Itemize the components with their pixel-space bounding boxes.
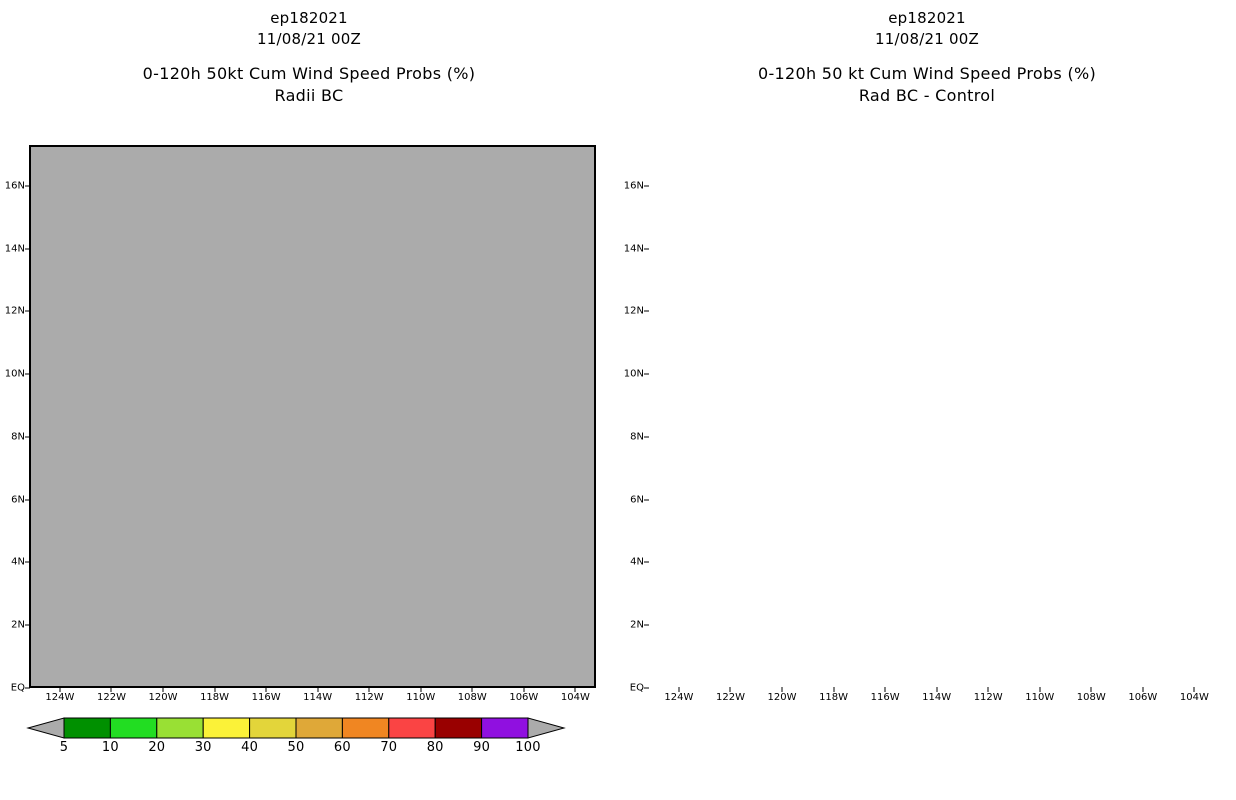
x-tick-label: 116W: [252, 692, 281, 703]
x-tick-mark: [782, 687, 783, 692]
colorbar-swatch: [250, 718, 296, 738]
y-tick-label: 14N: [614, 243, 644, 254]
x-tick-mark: [730, 687, 731, 692]
colorbar-swatch: [296, 718, 342, 738]
colorbar-tick-label: 60: [334, 740, 351, 755]
y-tick-label: 2N: [614, 620, 644, 631]
panel-right-title-block: ep182021 11/08/21 00Z 0-120h 50 kt Cum W…: [618, 8, 1236, 108]
y-tick-label: 16N: [0, 180, 25, 191]
colorbar-tick-label: 5: [60, 740, 68, 755]
y-tick-label: 10N: [0, 369, 25, 380]
y-tick-mark: [644, 436, 649, 437]
panel-radii-bc: ep182021 11/08/21 00Z 0-120h 50kt Cum Wi…: [0, 0, 618, 800]
x-tick-label: 112W: [355, 692, 384, 703]
colorbar-tick-label: 70: [380, 740, 397, 755]
y-tick-label: 8N: [614, 431, 644, 442]
colorbar-swatch: [157, 718, 203, 738]
y-tick-mark: [25, 311, 30, 312]
panel-right-storm-id: ep182021: [618, 8, 1236, 29]
x-tick-mark: [214, 687, 215, 692]
x-tick-label: 114W: [922, 692, 951, 703]
y-tick-mark: [644, 499, 649, 500]
plot-area-left: [29, 145, 596, 688]
y-tick-label: 10N: [614, 369, 644, 380]
panel-right-valid-time: 11/08/21 00Z: [618, 29, 1236, 50]
colorbar-swatch: [203, 718, 249, 738]
y-tick-mark: [25, 374, 30, 375]
colorbar-tick-label: 100: [515, 740, 540, 755]
y-tick-label: 14N: [0, 243, 25, 254]
y-tick-mark: [25, 436, 30, 437]
x-tick-label: 116W: [871, 692, 900, 703]
panel-left-title-block: ep182021 11/08/21 00Z 0-120h 50kt Cum Wi…: [0, 8, 618, 108]
x-tick-mark: [420, 687, 421, 692]
y-tick-mark: [25, 185, 30, 186]
colorbar-left: 5102030405060708090100: [0, 716, 618, 776]
colorbar-tick-label: 50: [288, 740, 305, 755]
colorbar-arrow-high: [528, 718, 564, 738]
x-tick-label: 118W: [200, 692, 229, 703]
colorbar-swatch: [342, 718, 388, 738]
y-tick-label: EQ: [614, 683, 644, 694]
x-tick-mark: [59, 687, 60, 692]
x-tick-label: 120W: [768, 692, 797, 703]
x-tick-label: 104W: [1180, 692, 1209, 703]
y-tick-mark: [644, 311, 649, 312]
colorbar-tick-label: 80: [427, 740, 444, 755]
x-tick-label: 106W: [509, 692, 538, 703]
y-tick-mark: [644, 248, 649, 249]
panel-right-title-main: 0-120h 50 kt Cum Wind Speed Probs (%): [618, 63, 1236, 85]
x-tick-mark: [1142, 687, 1143, 692]
x-tick-mark: [1091, 687, 1092, 692]
x-tick-mark: [936, 687, 937, 692]
x-tick-mark: [678, 687, 679, 692]
colorbar-swatch: [435, 718, 481, 738]
y-tick-mark: [25, 688, 30, 689]
x-tick-label: 118W: [819, 692, 848, 703]
y-tick-mark: [25, 248, 30, 249]
panel-left-title-sub: Radii BC: [0, 85, 618, 107]
y-tick-mark: [25, 562, 30, 563]
colorbar-swatch: [482, 718, 528, 738]
y-tick-mark: [644, 374, 649, 375]
colorbar-tick-label: 30: [195, 740, 212, 755]
x-tick-mark: [163, 687, 164, 692]
x-tick-label: 124W: [45, 692, 74, 703]
x-tick-label: 122W: [97, 692, 126, 703]
panel-right-title-sub: Rad BC - Control: [618, 85, 1236, 107]
colorbar-tick-label: 90: [473, 740, 490, 755]
y-tick-mark: [25, 625, 30, 626]
y-tick-label: 8N: [0, 431, 25, 442]
x-tick-label: 108W: [1077, 692, 1106, 703]
y-tick-mark: [644, 625, 649, 626]
y-tick-mark: [25, 499, 30, 500]
x-tick-label: 122W: [716, 692, 745, 703]
x-tick-label: 110W: [1025, 692, 1054, 703]
x-tick-mark: [1039, 687, 1040, 692]
y-tick-label: 2N: [0, 620, 25, 631]
x-tick-mark: [523, 687, 524, 692]
y-tick-mark: [644, 185, 649, 186]
x-tick-mark: [988, 687, 989, 692]
colorbar-tick-label: 40: [241, 740, 258, 755]
y-tick-label: 12N: [614, 306, 644, 317]
y-tick-label: 4N: [614, 557, 644, 568]
colorbar-tick-label: 20: [148, 740, 165, 755]
panel-rad-bc-minus-control: ep182021 11/08/21 00Z 0-120h 50 kt Cum W…: [618, 0, 1236, 800]
x-tick-label: 114W: [303, 692, 332, 703]
x-tick-label: 124W: [664, 692, 693, 703]
x-tick-label: 110W: [406, 692, 435, 703]
x-tick-mark: [266, 687, 267, 692]
x-tick-mark: [317, 687, 318, 692]
colorbar-swatch: [64, 718, 110, 738]
colorbar-tick-label: 10: [102, 740, 119, 755]
y-tick-mark: [644, 688, 649, 689]
x-tick-mark: [369, 687, 370, 692]
x-tick-label: 104W: [561, 692, 590, 703]
panel-left-valid-time: 11/08/21 00Z: [0, 29, 618, 50]
panel-left-storm-id: ep182021: [0, 8, 618, 29]
y-tick-mark: [644, 562, 649, 563]
x-tick-mark: [1194, 687, 1195, 692]
y-tick-label: 6N: [614, 494, 644, 505]
x-tick-label: 108W: [458, 692, 487, 703]
x-tick-mark: [111, 687, 112, 692]
y-tick-label: 6N: [0, 494, 25, 505]
x-tick-mark: [575, 687, 576, 692]
x-tick-mark: [472, 687, 473, 692]
figure-canvas: ep182021 11/08/21 00Z 0-120h 50kt Cum Wi…: [0, 0, 1236, 800]
x-tick-mark: [885, 687, 886, 692]
y-tick-label: 16N: [614, 180, 644, 191]
x-tick-label: 106W: [1128, 692, 1157, 703]
colorbar-arrow-low: [28, 718, 64, 738]
x-tick-mark: [833, 687, 834, 692]
y-tick-label: 12N: [0, 306, 25, 317]
colorbar-swatch: [110, 718, 156, 738]
panel-left-title-main: 0-120h 50kt Cum Wind Speed Probs (%): [0, 63, 618, 85]
x-tick-label: 112W: [974, 692, 1003, 703]
x-tick-label: 120W: [149, 692, 178, 703]
y-tick-label: 4N: [0, 557, 25, 568]
colorbar-swatch: [389, 718, 435, 738]
y-tick-label: EQ: [0, 683, 25, 694]
